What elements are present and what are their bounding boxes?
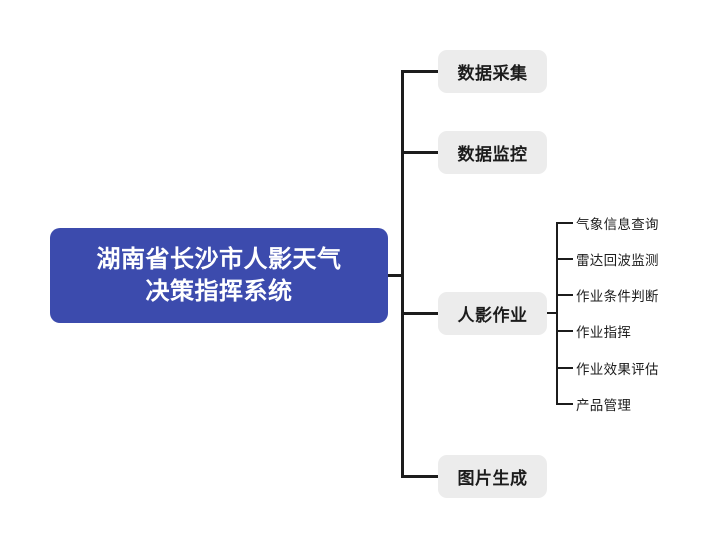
branch-node-data-collection[interactable]: 数据采集 (438, 50, 547, 93)
leaf-label-operation-condition-judgment[interactable]: 作业条件判断 (576, 285, 659, 305)
branch-node-label: 数据监控 (458, 140, 528, 165)
connector-branch-ops (401, 312, 439, 315)
connector-trunk-spine (401, 70, 404, 478)
leaf-label-operation-command[interactable]: 作业指挥 (576, 321, 631, 341)
connector-leaf-6 (556, 403, 573, 405)
leaf-label-weather-info-query[interactable]: 气象信息查询 (576, 213, 659, 233)
connector-leaf-1 (556, 222, 573, 224)
leaf-label-radar-echo-monitoring[interactable]: 雷达回波监测 (576, 249, 659, 269)
connector-branch-monitor (401, 151, 439, 154)
root-node-label: 湖南省长沙市人影天气 决策指挥系统 (97, 244, 342, 307)
root-node[interactable]: 湖南省长沙市人影天气 决策指挥系统 (50, 228, 388, 323)
leaf-label-operation-effect-evaluation[interactable]: 作业效果评估 (576, 358, 659, 378)
branch-node-image-generation[interactable]: 图片生成 (438, 455, 547, 498)
mindmap-canvas: 湖南省长沙市人影天气 决策指挥系统 数据采集 数据监控 人影作业 图片生成 气象… (0, 0, 718, 547)
branch-node-data-monitoring[interactable]: 数据监控 (438, 131, 547, 174)
leaf-label-product-management[interactable]: 产品管理 (576, 394, 631, 414)
connector-leaf-5 (556, 367, 573, 369)
branch-node-label: 人影作业 (458, 301, 528, 326)
connector-leaf-4 (556, 330, 573, 332)
branch-node-label: 图片生成 (458, 464, 528, 489)
connector-branch-collect (401, 70, 439, 73)
branch-node-label: 数据采集 (458, 59, 528, 84)
connector-leaf-spine (556, 222, 558, 405)
connector-leaf-2 (556, 258, 573, 260)
branch-node-weather-modification-ops[interactable]: 人影作业 (438, 292, 547, 335)
connector-leaf-3 (556, 294, 573, 296)
connector-branch-image (401, 475, 439, 478)
